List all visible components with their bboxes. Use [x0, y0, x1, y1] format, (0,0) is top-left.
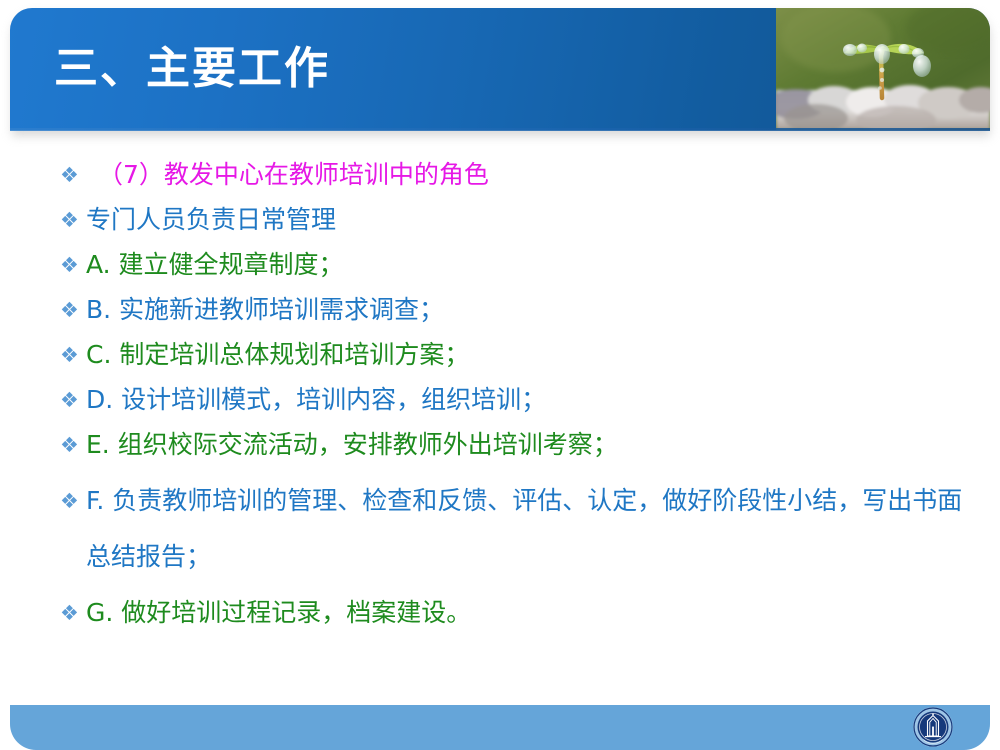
list-item-text: G. 做好培训过程记录，档案建设。 [86, 596, 974, 630]
list-item-text: B. 实施新进教师培训需求调查； [86, 293, 974, 327]
list-item: ❖ （7）教发中心在教师培训中的角色 [0, 158, 1000, 192]
diamond-bullet-icon: ❖ [60, 383, 86, 417]
diamond-bullet-icon: ❖ [60, 248, 86, 282]
list-item: ❖ A. 建立健全规章制度； [0, 248, 1000, 282]
list-item: ❖ C. 制定培训总体规划和培训方案； [0, 338, 1000, 372]
diamond-bullet-icon: ❖ [60, 338, 86, 372]
slide-footer [10, 705, 990, 750]
slide-canvas: 三、主要工作 [0, 0, 1000, 750]
list-item-text: 专门人员负责日常管理 [86, 203, 974, 237]
list-item-text: A. 建立健全规章制度； [86, 248, 974, 282]
list-item-text: C. 制定培训总体规划和培训方案； [86, 338, 974, 372]
page-title: 三、主要工作 [54, 47, 330, 91]
list-item: ❖ F. 负责教师培训的管理、检查和反馈、评估、认定，做好阶段性小结，写出书面总… [0, 473, 1000, 585]
list-item: ❖ B. 实施新进教师培训需求调查； [0, 293, 1000, 327]
diamond-bullet-icon: ❖ [60, 596, 86, 630]
list-item: ❖ E. 组织校际交流活动，安排教师外出培训考察； [0, 428, 1000, 462]
header-bottom-rule [10, 128, 990, 131]
diamond-bullet-icon: ❖ [60, 473, 86, 529]
diamond-bullet-icon: ❖ [60, 293, 86, 327]
bullet-list: ❖ （7）教发中心在教师培训中的角色 ❖ 专门人员负责日常管理 ❖ A. 建立健… [0, 158, 1000, 641]
seedling-photo-graphic [776, 8, 990, 130]
university-seal-logo [912, 706, 954, 748]
slide-header: 三、主要工作 [10, 8, 990, 130]
list-item-text: F. 负责教师培训的管理、检查和反馈、评估、认定，做好阶段性小结，写出书面总结报… [86, 473, 974, 585]
seedling-photo [776, 8, 990, 130]
header-banner: 三、主要工作 [10, 8, 990, 130]
university-seal-graphic [912, 706, 954, 748]
diamond-bullet-icon: ❖ [60, 203, 86, 237]
list-item: ❖ G. 做好培训过程记录，档案建设。 [0, 596, 1000, 630]
list-item: ❖ D. 设计培训模式，培训内容，组织培训； [0, 383, 1000, 417]
list-item-text: D. 设计培训模式，培训内容，组织培训； [86, 383, 974, 417]
list-item: ❖ 专门人员负责日常管理 [0, 203, 1000, 237]
list-item-text: （7）教发中心在教师培训中的角色 [86, 158, 974, 192]
diamond-bullet-icon: ❖ [60, 428, 86, 462]
diamond-bullet-icon: ❖ [60, 158, 86, 192]
list-item-text: E. 组织校际交流活动，安排教师外出培训考察； [86, 428, 974, 462]
